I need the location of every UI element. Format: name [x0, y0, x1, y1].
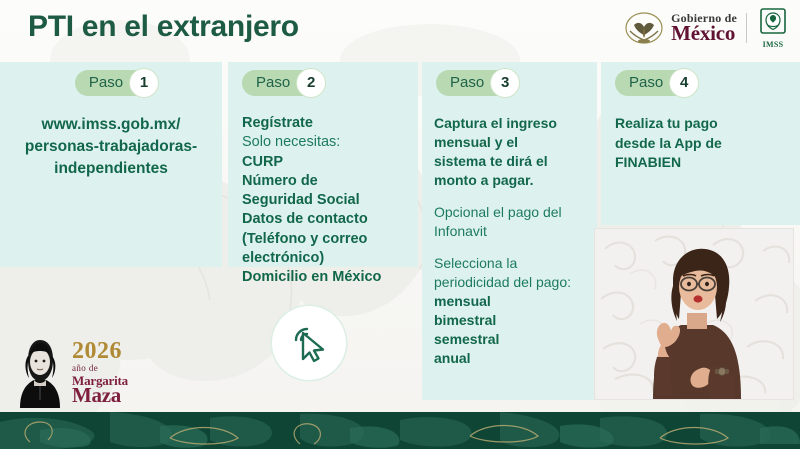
step-1-line-2: personas-trabajadoras-	[6, 136, 216, 158]
step-1-line-1: www.imss.gob.mx/	[6, 114, 216, 136]
step-4-body: Realiza tu pago desde la App de FINABIEN	[601, 114, 800, 173]
slide-header: PTI en el extranjero Gobierno de México	[0, 0, 800, 58]
page-title: PTI en el extranjero	[28, 10, 299, 44]
sign-language-interpreter-frame	[595, 229, 793, 399]
imss-shield-icon	[760, 8, 786, 34]
step-2-line-6: Datos de contacto	[242, 210, 418, 229]
logo-divider	[746, 13, 747, 43]
step-3-line-6: Opcional el pago del	[434, 203, 597, 222]
step-3-line-9: Selecciona la	[434, 254, 597, 273]
emblem-year: 2026	[72, 339, 128, 363]
step-column-2: Paso 2 Regístrate Solo necesitas: CURP N…	[228, 70, 418, 288]
step-3-line-10: periodicidad del pago:	[434, 273, 597, 292]
step-2-line-7: (Teléfono y correo	[242, 230, 418, 249]
step-3-line-1: Captura el ingreso	[434, 114, 597, 133]
bottom-decorative-bar	[0, 412, 800, 449]
step-3-option-anual: anual	[434, 349, 597, 368]
step-column-4: Paso 4 Realiza tu pago desde la App de F…	[601, 70, 800, 173]
step-2-line-4: Número de	[242, 172, 418, 191]
emblem-last-name: Maza	[72, 385, 128, 406]
step-2-badge-label: Paso	[256, 74, 290, 91]
step-column-3: Paso 3 Captura el ingreso mensual y el s…	[422, 70, 597, 368]
step-2-badge-wrap: Paso 2	[228, 70, 418, 96]
step-3-spacer-1	[434, 190, 597, 203]
sign-language-video[interactable]	[594, 228, 794, 400]
step-3-line-2: mensual y el	[434, 133, 597, 152]
imss-label: IMSS	[756, 40, 790, 49]
click-cursor-badge	[272, 306, 346, 380]
step-2-line-5: Seguridad Social	[242, 191, 418, 210]
step-4-number: 4	[669, 68, 699, 98]
step-3-option-mensual: mensual	[434, 292, 597, 311]
step-2-line-9: Domicilio en México	[242, 268, 418, 287]
step-4-line-3: FINABIEN	[615, 153, 800, 173]
step-3-line-4: monto a pagar.	[434, 171, 597, 190]
gobierno-de-mexico-logo: Gobierno de México IMSS	[624, 8, 790, 48]
step-3-option-bimestral: bimestral	[434, 311, 597, 330]
step-1-number: 1	[129, 68, 159, 98]
step-2-number: 2	[296, 68, 326, 98]
step-3-number: 3	[490, 68, 520, 98]
step-column-1: Paso 1 www.imss.gob.mx/ personas-trabaja…	[0, 70, 222, 180]
step-2-line-3: CURP	[242, 153, 418, 172]
step-3-option-semestral: semestral	[434, 330, 597, 349]
step-4-badge-wrap: Paso 4	[601, 70, 800, 96]
slide-root: PTI en el extranjero Gobierno de México	[0, 0, 800, 449]
step-2-body: Regístrate Solo necesitas: CURP Número d…	[228, 114, 418, 288]
step-4-line-1: Realiza tu pago	[615, 114, 800, 134]
step-1-badge-label: Paso	[89, 74, 123, 91]
bottom-bar-leaf-pattern	[0, 412, 800, 449]
step-2-badge: Paso 2	[242, 70, 324, 96]
step-3-line-7: Infonavit	[434, 222, 597, 241]
step-4-line-2: desde la App de	[615, 134, 800, 154]
gobierno-line-2: México	[671, 23, 737, 44]
step-3-badge-label: Paso	[450, 74, 484, 91]
step-4-badge-label: Paso	[629, 74, 663, 91]
step-3-badge: Paso 3	[436, 70, 518, 96]
step-1-badge-wrap: Paso 1	[0, 70, 222, 96]
step-3-badge-wrap: Paso 3	[422, 70, 597, 96]
mexican-eagle-seal-icon	[624, 11, 664, 45]
step-2-line-2: Solo necesitas:	[242, 133, 418, 152]
click-cursor-icon	[284, 318, 334, 368]
step-4-badge: Paso 4	[615, 70, 697, 96]
step-3-line-3: sistema te dirá el	[434, 152, 597, 171]
step-1-badge: Paso 1	[75, 70, 157, 96]
emblem-ano-de: año de	[72, 364, 128, 373]
margarita-maza-text: 2026 año de Margarita Maza	[72, 339, 128, 408]
step-3-body: Captura el ingreso mensual y el sistema …	[422, 114, 597, 368]
step-2-line-1: Regístrate	[242, 114, 418, 133]
margarita-maza-emblem: 2026 año de Margarita Maza	[14, 336, 164, 408]
step-3-spacer-2	[434, 241, 597, 254]
imss-logo: IMSS	[756, 8, 790, 49]
step-1-body: www.imss.gob.mx/ personas-trabajadoras- …	[0, 114, 222, 180]
step-1-line-3: independientes	[6, 158, 216, 180]
margarita-maza-portrait-icon	[14, 338, 66, 408]
step-2-line-8: electrónico)	[242, 249, 418, 268]
